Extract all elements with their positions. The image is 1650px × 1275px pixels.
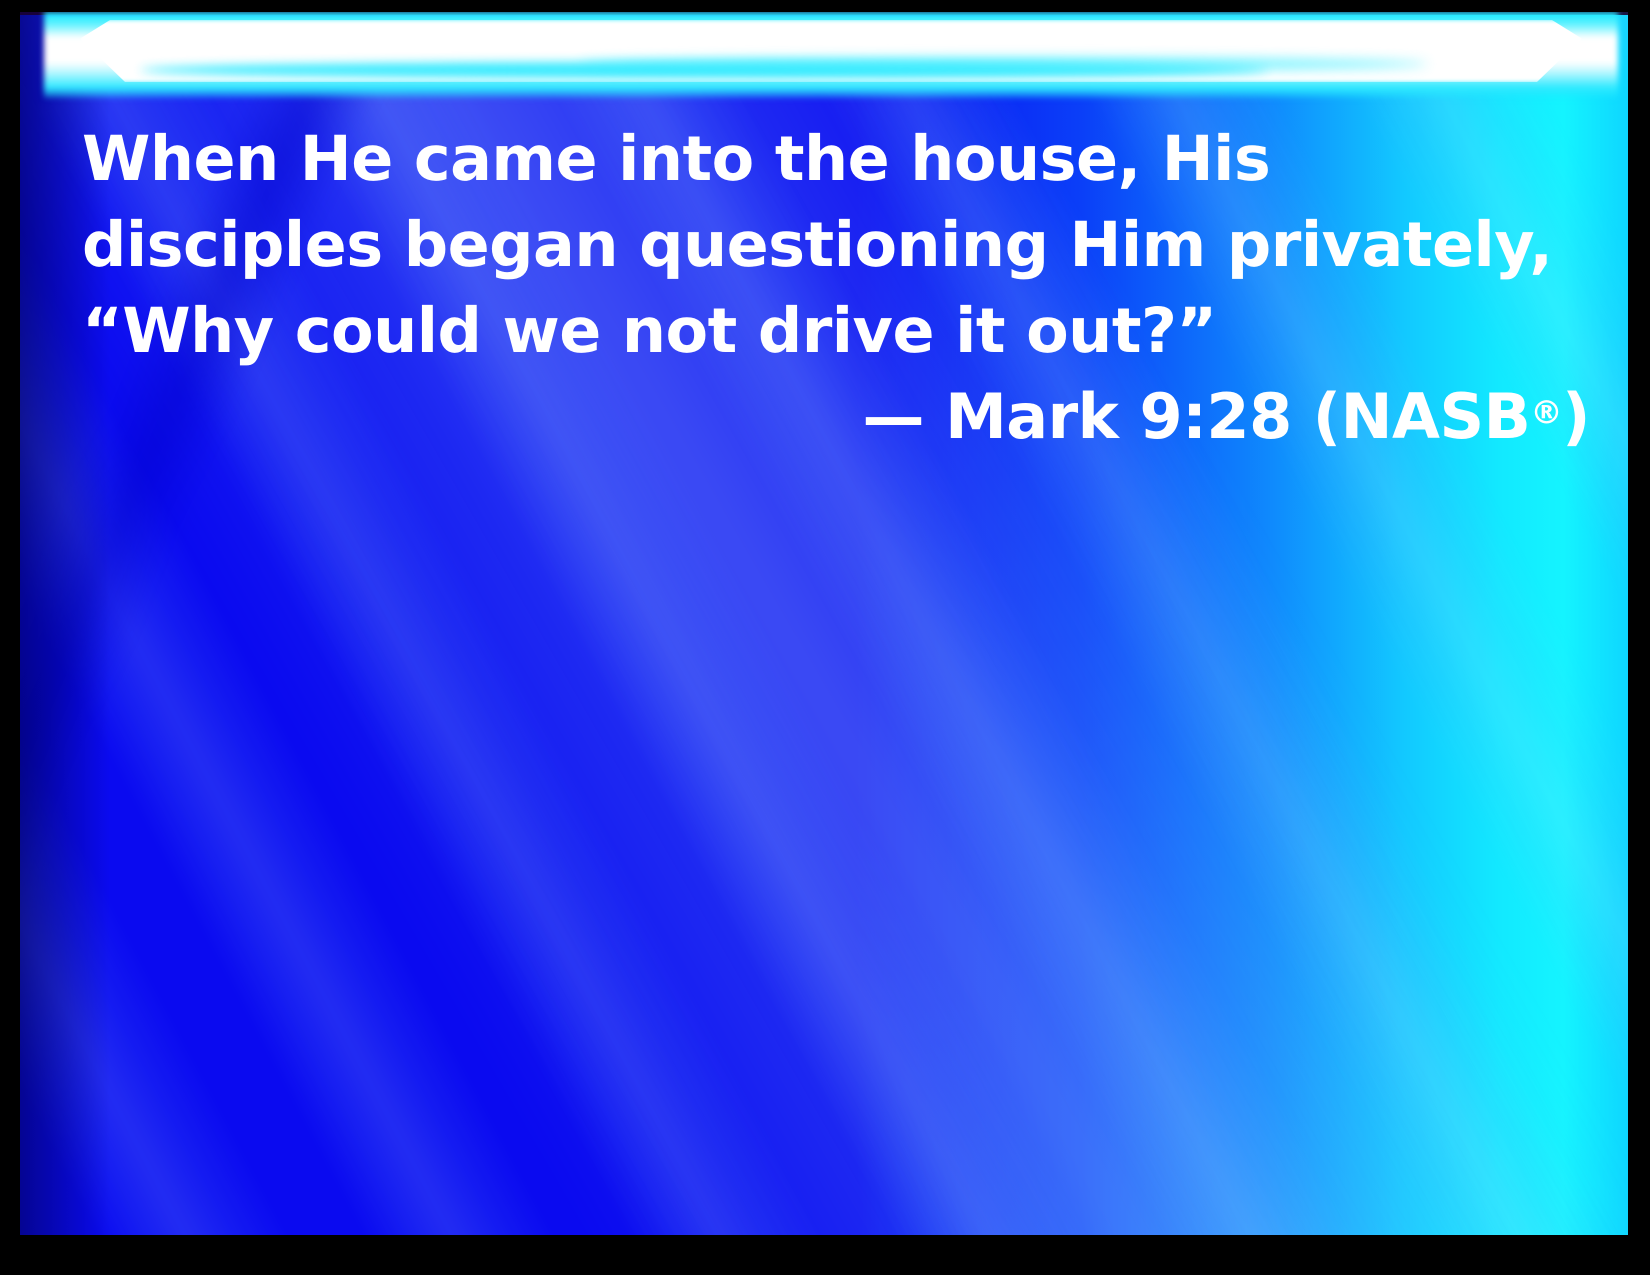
verse-line-3: “Why could we not drive it out?” xyxy=(82,288,1600,374)
verse-line-1: When He came into the house, His xyxy=(82,116,1600,202)
verse-attribution: — Mark 9:28 (NASB®) xyxy=(82,374,1600,460)
slide-artwork-area: When He came into the house, His discipl… xyxy=(20,12,1628,1235)
scripture-slide: When He came into the house, His discipl… xyxy=(0,0,1650,1275)
attribution-close-paren: ) xyxy=(1562,380,1590,453)
attribution-em-dash: — xyxy=(862,380,945,453)
attribution-reference: Mark 9:28 (NASB xyxy=(945,380,1530,453)
verse-text-block: When He came into the house, His discipl… xyxy=(82,116,1600,460)
verse-line-2: disciples began questioning Him privatel… xyxy=(82,202,1600,288)
registered-trademark-icon: ® xyxy=(1530,394,1562,432)
